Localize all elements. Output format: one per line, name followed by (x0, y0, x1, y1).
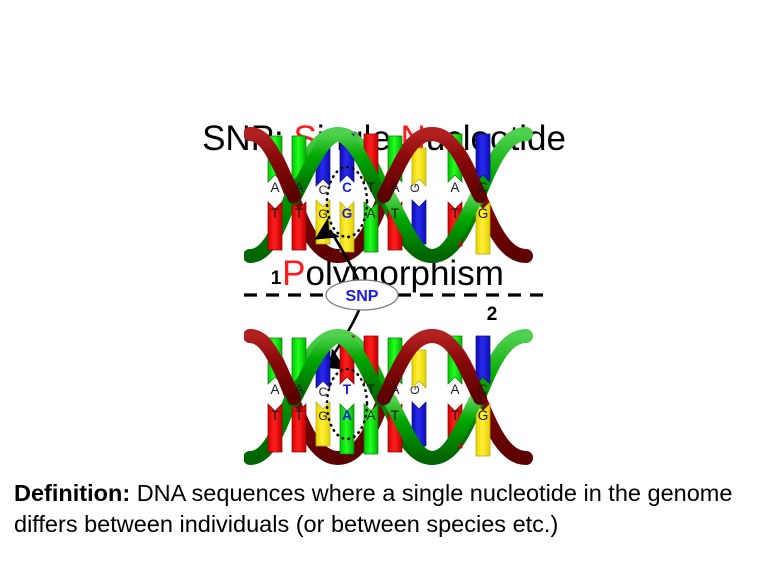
letter-bottom-2-bottom: T (295, 408, 303, 423)
letter-top-7-top: G (408, 183, 422, 192)
snp-badge[interactable]: SNP (326, 280, 398, 310)
dna-strand-bottom: A T A T C G T A T A A T G A T C G (250, 336, 526, 458)
backbone-green-bottom-front2 (390, 400, 476, 458)
letter-bottom-7-top: G (408, 385, 422, 394)
letter-bottom-1-top: A (270, 382, 279, 397)
letter-top-2-top: A (294, 180, 303, 195)
letter-top-9-top: C (478, 180, 488, 195)
letter-top-6-bottom: T (391, 206, 399, 221)
letter-top-3-bottom: G (318, 207, 327, 221)
letter-top-5-top: T (367, 180, 375, 195)
letter-top-8-bottom: T (451, 206, 459, 221)
letter-top-6-top: A (390, 180, 399, 195)
dna-strand-top: A T A T C G C G T A A T G A T C G (250, 134, 526, 256)
definition-lead: Definition: (14, 480, 130, 506)
letter-bottom-6-top: A (390, 382, 399, 397)
snp-badge-label: SNP (346, 288, 379, 305)
letter-top-3-top: C (319, 183, 328, 197)
letter-bottom-3-top: C (319, 385, 328, 399)
dna-snp-figure: A T A T C G C G T A A T G A T C G 1 SNP (244, 126, 544, 466)
letter-bottom-4-bottom-snp: A (342, 408, 352, 423)
letter-bottom-4-top-snp: T (343, 382, 352, 397)
backbone-green-top-front2 (390, 198, 476, 256)
letter-bottom-6-bottom: T (391, 408, 399, 423)
letter-bottom-9-top: C (478, 382, 488, 397)
letter-bottom-2-top: A (294, 382, 303, 397)
letter-bottom-8-top: A (450, 382, 459, 397)
dna-diagram-svg: A T A T C G C G T A A T G A T C G 1 SNP (244, 126, 544, 466)
definition-text: Definition: DNA sequences where a single… (14, 478, 759, 540)
letter-bottom-1-bottom: T (271, 408, 279, 423)
letter-top-9-bottom: G (478, 206, 489, 221)
letter-bottom-5-top: T (367, 382, 375, 397)
letter-top-1-top: A (270, 180, 279, 195)
strand-label-2: 2 (487, 304, 498, 325)
letter-bottom-3-bottom: G (318, 409, 327, 423)
strand-label-1: 1 (271, 268, 282, 289)
letter-bottom-8-bottom: T (451, 408, 459, 423)
letter-top-8-top: A (450, 180, 459, 195)
letter-top-1-bottom: T (271, 206, 279, 221)
letter-top-4-bottom-snp: G (342, 206, 353, 221)
letter-bottom-9-bottom: G (478, 408, 489, 423)
letter-top-2-bottom: T (295, 206, 303, 221)
letter-top-4-top-snp: C (342, 180, 352, 195)
